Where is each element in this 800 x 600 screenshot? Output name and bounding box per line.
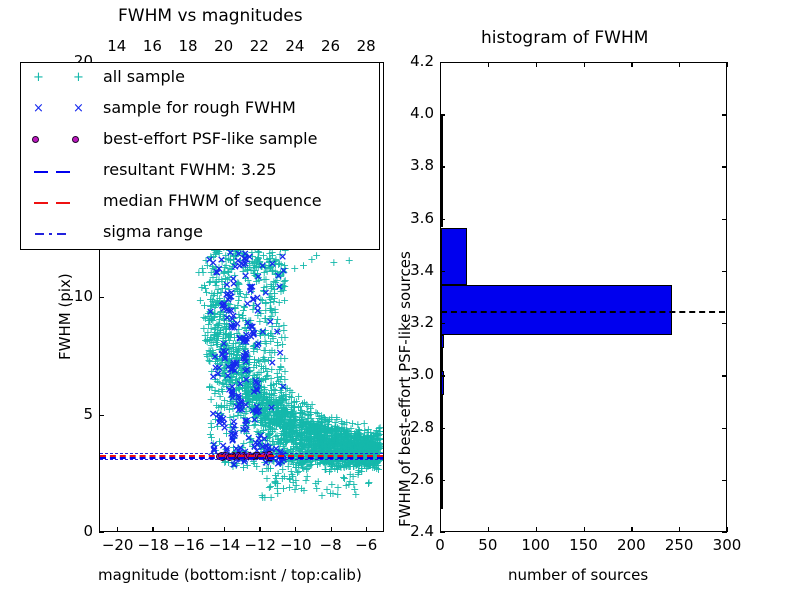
scatter-point-all: +: [239, 303, 248, 310]
scatter-point-all: +: [303, 437, 312, 444]
scatter-point-all: +: [277, 389, 286, 396]
scatter-point-all: +: [269, 392, 278, 399]
scatter-point-all: +: [320, 466, 329, 473]
scatter-point-all: +: [251, 386, 260, 393]
scatter-point-all: +: [339, 436, 348, 443]
scatter-point-all: +: [261, 365, 270, 372]
scatter-point-all: +: [264, 265, 273, 272]
scatter-point-all: +: [261, 347, 270, 354]
scatter-point-all: +: [263, 415, 272, 422]
scatter-point-all: +: [220, 341, 229, 348]
scatter-point-all: +: [353, 460, 362, 467]
scatter-point-all: +: [216, 343, 225, 350]
scatter-point-all: +: [217, 302, 226, 309]
scatter-point-all: +: [253, 412, 262, 419]
scatter-point-rough: ×: [220, 353, 229, 360]
scatter-point-all: +: [203, 353, 212, 360]
scatter-point-all: +: [357, 442, 366, 449]
scatter-point-all: +: [253, 312, 262, 319]
xtick-label-bottom: −20: [102, 536, 132, 554]
scatter-point-rough: ×: [228, 390, 237, 397]
scatter-point-all: +: [261, 410, 270, 417]
scatter-point-all: +: [246, 378, 255, 385]
scatter-point-all: +: [313, 433, 322, 440]
scatter-point-all: +: [349, 437, 358, 444]
scatter-point-all: +: [255, 404, 264, 411]
scatter-point-all: +: [328, 461, 337, 468]
scatter-point-all: +: [307, 256, 316, 263]
scatter-point-all: +: [209, 253, 218, 260]
scatter-point-all: +: [307, 436, 316, 443]
scatter-point-all: +: [232, 252, 241, 259]
scatter-point-all: +: [284, 420, 293, 427]
scatter-point-all: +: [334, 439, 343, 446]
scatter-point-all: +: [284, 419, 293, 426]
scatter-point-all: +: [265, 250, 274, 257]
scatter-point-all: +: [260, 393, 269, 400]
scatter-point-all: +: [220, 264, 229, 271]
scatter-point-all: +: [226, 331, 235, 338]
scatter-point-all: +: [363, 443, 372, 450]
scatter-point-all: +: [333, 427, 342, 434]
scatter-point-all: +: [208, 317, 217, 324]
scatter-point-all: +: [262, 399, 271, 406]
scatter-point-rough: ×: [242, 426, 251, 433]
scatter-point-all: +: [273, 420, 282, 427]
scatter-point-all: +: [243, 379, 252, 386]
scatter-point-all: +: [225, 331, 234, 338]
scatter-point-all: +: [286, 417, 295, 424]
scatter-point-rough: ×: [253, 273, 262, 280]
scatter-point-all: +: [241, 275, 250, 282]
scatter-point-all: +: [344, 438, 353, 445]
scatter-point-all: +: [331, 437, 340, 444]
scatter-point-rough: ×: [225, 294, 234, 301]
scatter-point-rough: ×: [231, 263, 240, 270]
scatter-point-all: +: [274, 378, 283, 385]
scatter-point-all: +: [297, 429, 306, 436]
scatter-point-all: +: [342, 482, 351, 489]
scatter-point-all: +: [342, 428, 351, 435]
scatter-point-all: +: [345, 478, 354, 485]
scatter-point-all: +: [231, 253, 240, 260]
scatter-point-all: +: [342, 441, 351, 448]
scatter-point-all: +: [219, 270, 228, 277]
scatter-point-all: +: [231, 424, 240, 431]
scatter-point-rough: ×: [242, 351, 251, 358]
scatter-point-all: +: [251, 404, 260, 411]
scatter-point-all: +: [288, 437, 297, 444]
scatter-point-all: +: [260, 404, 269, 411]
cross-marker-icon: × ×: [21, 94, 99, 125]
scatter-point-all: +: [219, 335, 228, 342]
scatter-point-all: +: [248, 384, 257, 391]
scatter-point-all: +: [366, 462, 375, 469]
scatter-point-all: +: [250, 259, 259, 266]
scatter-point-all: +: [251, 404, 260, 411]
xtick-right-panel: [727, 527, 728, 532]
scatter-point-all: +: [205, 317, 214, 324]
scatter-point-all: +: [339, 428, 348, 435]
scatter-point-rough: ×: [240, 337, 249, 344]
xtick-label-bottom: −16: [173, 536, 203, 554]
scatter-point-all: +: [285, 434, 294, 441]
scatter-point-all: +: [260, 269, 269, 276]
scatter-point-all: +: [246, 321, 255, 328]
scatter-point-all: +: [274, 261, 283, 268]
scatter-point-all: +: [348, 473, 357, 480]
scatter-point-all: +: [269, 298, 278, 305]
scatter-point-all: +: [266, 399, 275, 406]
scatter-point-all: +: [252, 463, 261, 470]
scatter-point-all: +: [292, 398, 301, 405]
scatter-point-all: +: [314, 443, 323, 450]
scatter-point-all: +: [336, 462, 345, 469]
scatter-point-all: +: [364, 462, 373, 469]
scatter-point-rough: ×: [235, 404, 244, 411]
scatter-point-rough: ×: [236, 398, 245, 405]
scatter-point-all: +: [342, 427, 351, 434]
scatter-point-all: +: [224, 286, 233, 293]
scatter-point-all: +: [250, 407, 259, 414]
scatter-point-all: +: [240, 366, 249, 373]
scatter-point-all: +: [263, 397, 272, 404]
scatter-point-all: +: [360, 461, 369, 468]
scatter-point-all: +: [236, 257, 245, 264]
scatter-point-all: +: [302, 428, 311, 435]
scatter-point-rough: ×: [253, 441, 262, 448]
scatter-point-all: +: [207, 296, 216, 303]
scatter-point-all: +: [298, 436, 307, 443]
xtick-right-panel-top: [536, 62, 537, 67]
scatter-point-all: +: [268, 401, 277, 408]
scatter-point-all: +: [371, 443, 380, 450]
scatter-point-all: +: [215, 329, 224, 336]
scatter-point-all: +: [227, 355, 236, 362]
scatter-point-all: +: [238, 312, 247, 319]
scatter-point-all: +: [343, 430, 352, 437]
scatter-point-rough: ×: [214, 364, 223, 371]
scatter-point-all: +: [306, 431, 315, 438]
scatter-point-all: +: [320, 460, 329, 467]
scatter-point-all: +: [212, 339, 221, 346]
scatter-point-all: +: [367, 433, 376, 440]
scatter-point-all: +: [242, 370, 251, 377]
scatter-point-all: +: [355, 443, 364, 450]
scatter-point-all: +: [312, 425, 321, 432]
scatter-point-all: +: [262, 396, 271, 403]
scatter-point-rough: ×: [247, 323, 256, 330]
scatter-point-all: +: [365, 443, 374, 450]
scatter-point-all: +: [264, 401, 273, 408]
scatter-point-all: +: [268, 419, 277, 426]
histogram-bar: [441, 395, 443, 419]
scatter-point-all: +: [304, 424, 313, 431]
scatter-point-all: +: [206, 431, 215, 438]
scatter-point-all: +: [331, 425, 340, 432]
scatter-point-all: +: [333, 443, 342, 450]
scatter-point-all: +: [286, 416, 295, 423]
scatter-point-all: +: [276, 269, 285, 276]
scatter-point-all: +: [250, 359, 259, 366]
scatter-point-all: +: [320, 445, 329, 452]
scatter-point-all: +: [275, 421, 284, 428]
scatter-point-all: +: [270, 286, 279, 293]
scatter-point-all: +: [214, 404, 223, 411]
scatter-point-all: +: [371, 442, 380, 449]
scatter-point-all: +: [353, 440, 362, 447]
scatter-point-all: +: [358, 438, 367, 445]
scatter-point-all: +: [294, 393, 303, 400]
scatter-point-all: +: [203, 338, 212, 345]
scatter-point-all: +: [245, 264, 254, 271]
scatter-point-all: +: [288, 435, 297, 442]
scatter-point-all: +: [278, 411, 287, 418]
scatter-point-all: +: [282, 439, 291, 446]
scatter-point-all: +: [303, 408, 312, 415]
scatter-point-all: +: [290, 413, 299, 420]
ytick-right-panel-right: [722, 114, 727, 115]
scatter-point-rough: ×: [219, 442, 228, 449]
scatter-point-all: +: [295, 431, 304, 438]
scatter-point-all: +: [373, 432, 382, 439]
ytick-label-left: 10: [57, 287, 93, 305]
scatter-point-all: +: [287, 468, 296, 475]
scatter-point-all: +: [261, 412, 270, 419]
scatter-point-all: +: [274, 440, 283, 447]
scatter-point-all: +: [361, 439, 370, 446]
scatter-point-all: +: [306, 444, 315, 451]
scatter-point-all: +: [240, 324, 249, 331]
scatter-point-all: +: [301, 432, 310, 439]
scatter-point-all: +: [229, 253, 238, 260]
scatter-point-all: +: [265, 423, 274, 430]
scatter-point-all: +: [326, 441, 335, 448]
scatter-point-all: +: [349, 446, 358, 453]
scatter-point-all: +: [252, 406, 261, 413]
scatter-point-all: +: [252, 383, 261, 390]
scatter-point-all: +: [344, 459, 353, 466]
scatter-point-all: +: [257, 417, 266, 424]
scatter-point-all: +: [217, 276, 226, 283]
scatter-point-all: +: [213, 290, 222, 297]
scatter-point-all: +: [301, 477, 310, 484]
scatter-point-all: +: [248, 399, 257, 406]
scatter-point-all: +: [343, 432, 352, 439]
scatter-point-all: +: [309, 446, 318, 453]
scatter-point-all: +: [288, 417, 297, 424]
scatter-point-all: +: [242, 398, 251, 405]
scatter-point-all: +: [260, 494, 269, 501]
scatter-point-all: +: [337, 439, 346, 446]
scatter-point-all: +: [289, 428, 298, 435]
scatter-point-all: +: [205, 337, 214, 344]
scatter-point-all: +: [279, 432, 288, 439]
scatter-point-all: +: [272, 419, 281, 426]
scatter-point-rough: ×: [254, 340, 263, 347]
scatter-point-all: +: [366, 438, 375, 445]
scatter-point-all: +: [276, 376, 285, 383]
scatter-point-all: +: [260, 416, 269, 423]
scatter-point-rough: ×: [229, 461, 238, 468]
scatter-point-all: +: [356, 440, 365, 447]
scatter-point-all: +: [348, 442, 357, 449]
scatter-point-all: +: [225, 374, 234, 381]
scatter-point-all: +: [309, 441, 318, 448]
scatter-point-all: +: [375, 435, 384, 442]
scatter-point-all: +: [220, 340, 229, 347]
scatter-point-all: +: [327, 432, 336, 439]
scatter-point-all: +: [315, 425, 324, 432]
scatter-point-all: +: [314, 439, 323, 446]
scatter-point-all: +: [336, 464, 345, 471]
scatter-point-all: +: [283, 409, 292, 416]
scatter-point-all: +: [250, 383, 259, 390]
scatter-point-all: +: [331, 428, 340, 435]
scatter-point-all: +: [256, 411, 265, 418]
scatter-point-all: +: [302, 418, 311, 425]
scatter-point-all: +: [208, 347, 217, 354]
scatter-point-all: +: [205, 313, 214, 320]
scatter-point-all: +: [249, 302, 258, 309]
scatter-point-all: +: [333, 484, 342, 491]
scatter-point-all: +: [292, 444, 301, 451]
scatter-point-all: +: [315, 433, 324, 440]
scatter-point-all: +: [226, 379, 235, 386]
scatter-point-all: +: [229, 348, 238, 355]
scatter-point-all: +: [254, 400, 263, 407]
scatter-point-all: +: [350, 441, 359, 448]
scatter-point-all: +: [297, 409, 306, 416]
scatter-point-all: +: [367, 436, 376, 443]
scatter-point-all: +: [276, 402, 285, 409]
scatter-point-all: +: [270, 295, 279, 302]
scatter-point-all: +: [254, 440, 263, 447]
legend-box: + + all sample × × sample for rough FWHM…: [20, 62, 380, 250]
scatter-point-all: +: [220, 298, 229, 305]
scatter-point-all: +: [257, 415, 266, 422]
scatter-point-all: +: [277, 435, 286, 442]
scatter-point-all: +: [303, 465, 312, 472]
xtick-label-bottom: −18: [137, 536, 167, 554]
scatter-point-all: +: [317, 438, 326, 445]
scatter-point-all: +: [226, 374, 235, 381]
scatter-point-all: +: [272, 404, 281, 411]
scatter-point-all: +: [276, 272, 285, 279]
scatter-point-all: +: [253, 385, 262, 392]
scatter-point-all: +: [273, 370, 282, 377]
scatter-point-all: +: [244, 391, 253, 398]
scatter-point-all: +: [242, 372, 251, 379]
scatter-point-all: +: [295, 414, 304, 421]
scatter-point-all: +: [258, 442, 267, 449]
scatter-point-all: +: [360, 461, 369, 468]
scatter-point-all: +: [320, 423, 329, 430]
scatter-point-all: +: [353, 436, 362, 443]
scatter-point-all: +: [238, 444, 247, 451]
scatter-point-all: +: [278, 475, 287, 482]
scatter-point-all: +: [346, 441, 355, 448]
ytick-right-panel-right: [722, 428, 727, 429]
scatter-point-all: +: [267, 283, 276, 290]
scatter-point-all: +: [274, 271, 283, 278]
scatter-point-all: +: [252, 390, 261, 397]
scatter-point-rough: ×: [241, 358, 250, 365]
scatter-point-rough: ×: [251, 377, 260, 384]
scatter-point-all: +: [355, 434, 364, 441]
scatter-point-all: +: [256, 417, 265, 424]
ytick-label-right-panel: 2.4: [396, 522, 434, 540]
scatter-point-all: +: [261, 400, 270, 407]
scatter-point-all: +: [298, 421, 307, 428]
scatter-point-all: +: [274, 402, 283, 409]
scatter-point-rough: ×: [205, 256, 214, 263]
scatter-point-all: +: [362, 442, 371, 449]
histogram-bar: [441, 418, 443, 442]
scatter-point-all: +: [366, 461, 375, 468]
scatter-point-all: +: [312, 433, 321, 440]
scatter-point-all: +: [366, 441, 375, 448]
scatter-point-all: +: [257, 443, 266, 450]
scatter-point-all: +: [358, 448, 367, 455]
scatter-point-all: +: [355, 460, 364, 467]
scatter-point-all: +: [329, 259, 338, 266]
scatter-point-all: +: [232, 281, 241, 288]
scatter-point-all: +: [220, 297, 229, 304]
scatter-point-all: +: [366, 432, 375, 439]
scatter-point-all: +: [302, 429, 311, 436]
scatter-point-all: +: [266, 338, 275, 345]
scatter-point-all: +: [238, 341, 247, 348]
scatter-point-all: +: [341, 429, 350, 436]
scatter-point-all: +: [336, 430, 345, 437]
scatter-point-all: +: [241, 410, 250, 417]
scatter-point-all: +: [222, 323, 231, 330]
scatter-point-all: +: [319, 438, 328, 445]
scatter-point-all: +: [293, 469, 302, 476]
scatter-point-all: +: [366, 443, 375, 450]
scatter-point-all: +: [229, 367, 238, 374]
scatter-point-all: +: [245, 260, 254, 267]
scatter-point-all: +: [372, 427, 381, 434]
scatter-point-all: +: [242, 373, 251, 380]
scatter-point-all: +: [360, 420, 369, 427]
scatter-point-rough: ×: [279, 267, 288, 274]
scatter-point-all: +: [277, 436, 286, 443]
scatter-point-all: +: [358, 437, 367, 444]
scatter-point-all: +: [311, 409, 320, 416]
scatter-point-all: +: [213, 423, 222, 430]
scatter-point-all: +: [333, 424, 342, 431]
scatter-point-all: +: [363, 462, 372, 469]
scatter-point-all: +: [278, 282, 287, 289]
scatter-point-all: +: [261, 264, 270, 271]
scatter-point-all: +: [293, 443, 302, 450]
scatter-point-all: +: [201, 257, 210, 264]
scatter-point-rough: ×: [248, 296, 257, 303]
scatter-point-all: +: [266, 255, 275, 262]
scatter-point-all: +: [278, 341, 287, 348]
legend-item-resultant-fwhm: resultant FWHM: 3.25: [21, 156, 379, 187]
scatter-point-all: +: [343, 459, 352, 466]
scatter-point-all: +: [215, 438, 224, 445]
scatter-point-all: +: [226, 250, 235, 257]
scatter-point-all: +: [248, 443, 257, 450]
scatter-point-all: +: [283, 409, 292, 416]
scatter-point-all: +: [281, 396, 290, 403]
scatter-point-all: +: [250, 356, 259, 363]
scatter-point-all: +: [212, 321, 221, 328]
